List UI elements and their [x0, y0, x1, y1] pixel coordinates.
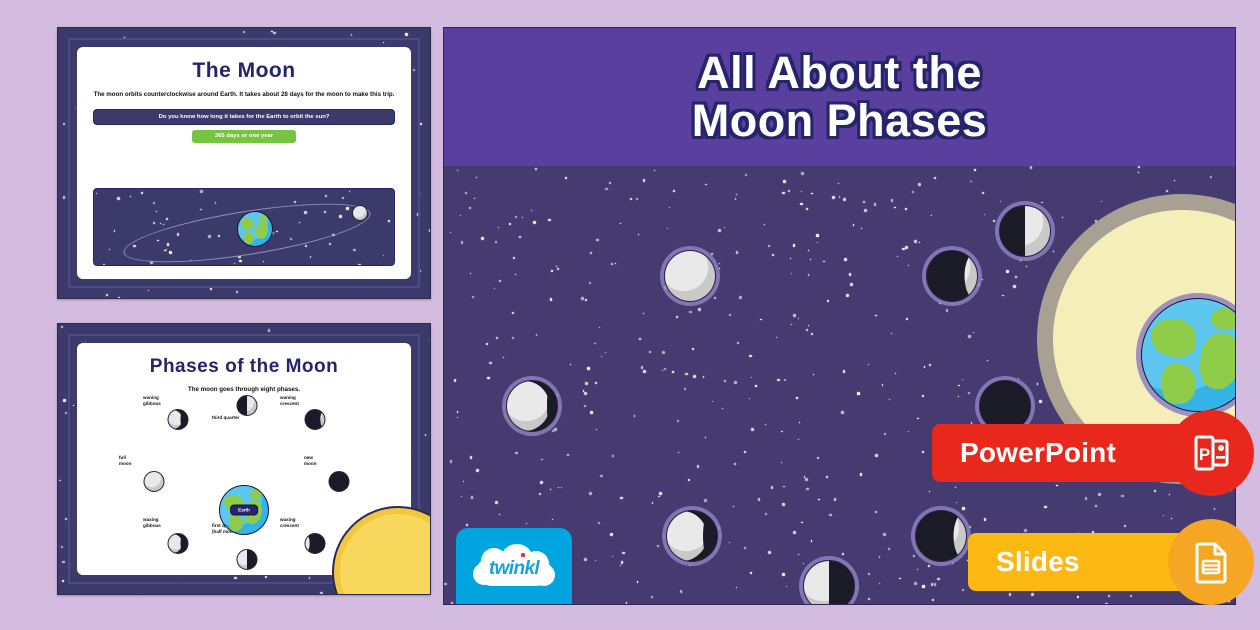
slide-answer: 365 days or one year	[192, 130, 296, 143]
moon-bottom	[803, 560, 855, 604]
main-preview-panel[interactable]: All About the Moon Phases twinkl	[443, 27, 1236, 605]
earth-label: Earth	[230, 505, 258, 516]
twinkl-wordmark: twinkl	[471, 558, 557, 580]
phase-moon-first-quarter	[237, 549, 258, 570]
powerpoint-badge[interactable]: PowerPoint P	[932, 424, 1228, 482]
slide-thumbnail-phases-of-the-moon[interactable]: Phases of the Moon The moon goes through…	[57, 323, 431, 595]
twinkl-dot	[521, 553, 525, 557]
phase-moon-waning-gibbous	[168, 409, 189, 430]
phase-moon-waxing-gibbous	[168, 533, 189, 554]
phase-moon-new-moon	[329, 471, 350, 492]
slides-label: Slides	[968, 546, 1080, 578]
phase-label-waxing-gibbous: waxing gibbous	[143, 517, 213, 529]
moon-lower-left	[666, 510, 718, 562]
phase-moon-waxing-crescent	[305, 533, 326, 554]
moon-upper-right	[926, 250, 978, 302]
cloud-icon: twinkl	[471, 545, 557, 589]
slides-badge[interactable]: Slides	[968, 533, 1228, 591]
moon-top	[999, 205, 1051, 257]
moon-lower-right	[915, 510, 967, 562]
slide-question: Do you know how long it takes for the Ea…	[93, 109, 395, 125]
powerpoint-label: PowerPoint	[932, 437, 1116, 469]
moon-upper-left	[664, 250, 716, 302]
moon-left	[506, 380, 558, 432]
slide-card: The Moon The moon orbits counterclockwis…	[76, 46, 412, 280]
earth-moon-orbit-diagram	[93, 188, 395, 266]
phase-moon-third-quarter	[237, 395, 258, 416]
slide-subtitle: The moon goes through eight phases.	[77, 385, 411, 395]
slide-title: The Moon	[77, 59, 411, 83]
earth-icon	[237, 211, 273, 247]
phase-label-waning-gibbous: waning gibbous	[143, 395, 213, 407]
slide-subtitle: The moon orbits counterclockwise around …	[77, 90, 411, 100]
phase-moon-waning-crescent	[305, 409, 326, 430]
slide-thumbnail-the-moon[interactable]: The Moon The moon orbits counterclockwis…	[57, 27, 431, 299]
page-title: All About the Moon Phases	[692, 49, 988, 144]
powerpoint-icon: P	[1168, 410, 1254, 496]
title-banner: All About the Moon Phases	[444, 28, 1235, 166]
moon-icon	[352, 205, 368, 221]
phase-label-new-moon: new moon	[304, 455, 374, 467]
phase-moon-full-moon	[144, 471, 165, 492]
phase-label-full-moon: full moon	[119, 455, 189, 467]
phase-label-waning-crescent: waning crescent	[280, 395, 350, 407]
twinkl-logo: twinkl	[456, 528, 572, 605]
google-slides-icon	[1168, 519, 1254, 605]
slide-title: Phases of the Moon	[77, 356, 411, 378]
svg-text:P: P	[1199, 445, 1210, 464]
phase-label-waxing-crescent: waxing crescent	[280, 517, 350, 529]
